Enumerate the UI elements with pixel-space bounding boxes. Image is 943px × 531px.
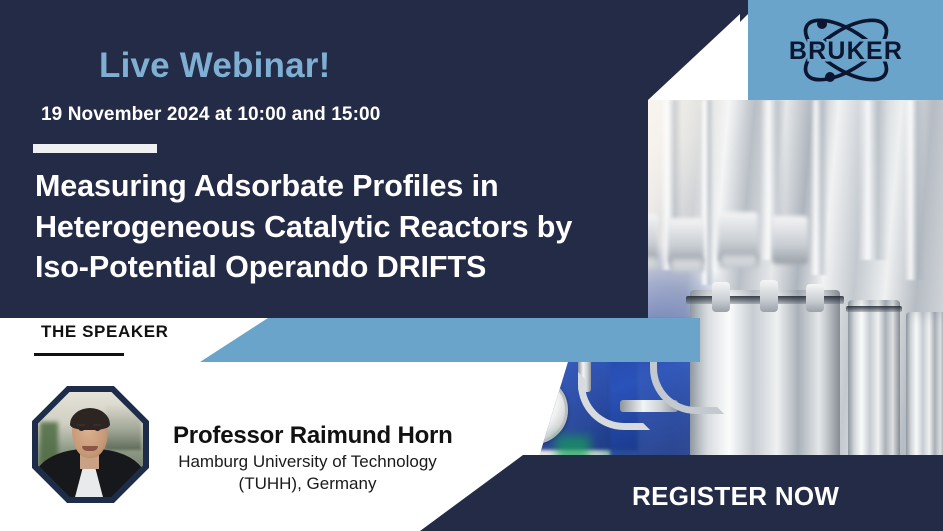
avatar (32, 386, 149, 503)
bruker-atom-logo: BRUKER (776, 10, 916, 90)
page-title-line-2: Heterogeneous Catalytic Reactors by (35, 207, 610, 248)
page-title-line-1: Measuring Adsorbate Profiles in (35, 166, 610, 207)
brand-logo-block: BRUKER (748, 0, 943, 100)
speaker-section-rule (34, 353, 124, 356)
speaker-portrait (38, 392, 143, 497)
register-now-button[interactable]: REGISTER NOW (632, 481, 839, 512)
speaker-affiliation: Hamburg University of Technology (TUHH),… (140, 451, 475, 496)
webinar-date: 19 November 2024 at 10:00 and 15:00 (41, 104, 380, 126)
speaker-affiliation-line-2: (TUHH), Germany (140, 473, 475, 495)
brand-wordmark: BRUKER (789, 37, 903, 65)
title-accent-bar (33, 144, 157, 153)
speaker-name: Professor Raimund Horn (173, 422, 453, 450)
page-title: Measuring Adsorbate Profiles in Heteroge… (35, 166, 610, 288)
speaker-section-label: THE SPEAKER (41, 322, 169, 342)
webinar-poster: BRUKER Live Webinar! 19 November 2024 at… (0, 0, 943, 531)
speaker-affiliation-line-1: Hamburg University of Technology (140, 451, 475, 473)
page-title-line-3: Iso-Potential Operando DRIFTS (35, 247, 610, 288)
kicker-live-webinar: Live Webinar! (99, 48, 330, 83)
